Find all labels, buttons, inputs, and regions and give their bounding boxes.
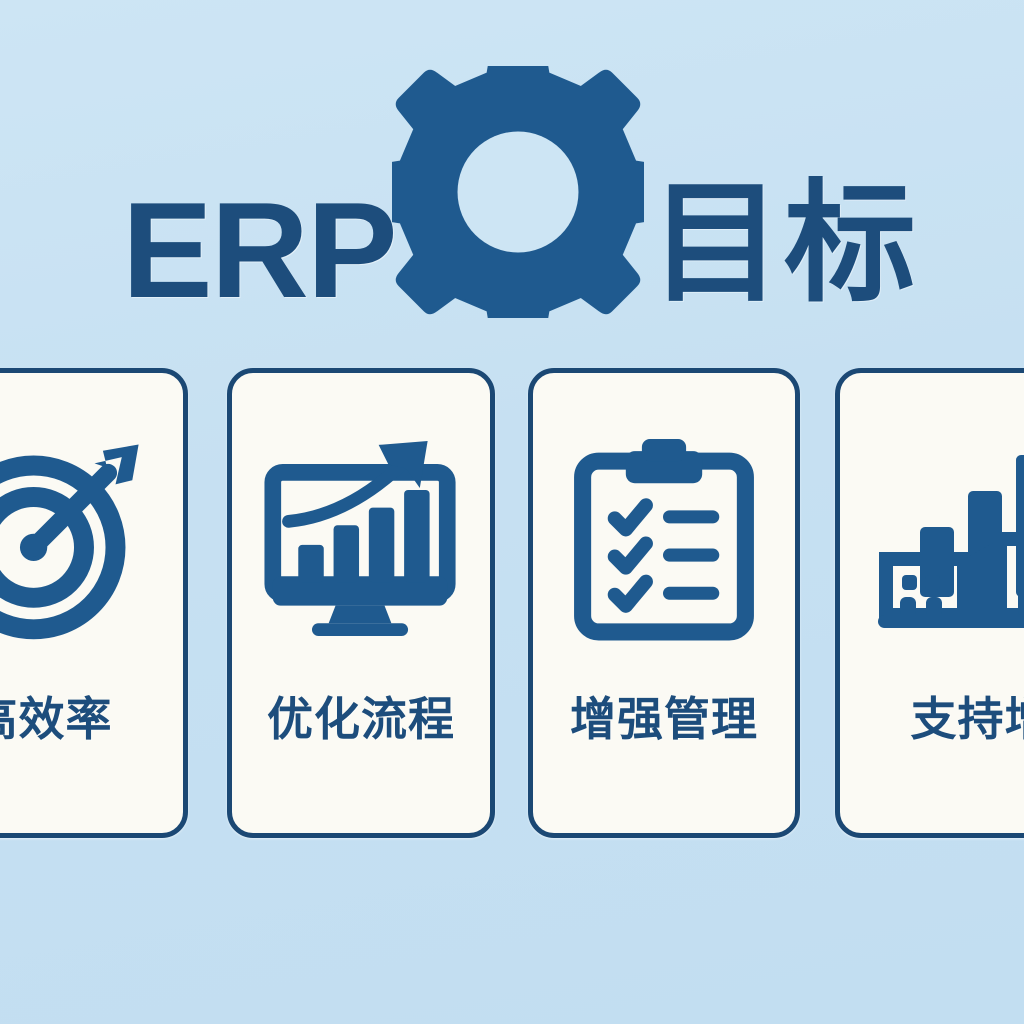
goal-card-label: 高效率 xyxy=(0,691,183,747)
page-title-cjk: 目标 xyxy=(650,178,918,310)
clipboard-checklist-icon xyxy=(533,415,795,663)
goal-card-label: 增强管理 xyxy=(533,691,795,747)
goal-card-efficiency[interactable]: 高效率 xyxy=(0,368,188,838)
goal-card-growth[interactable]: 支持增 xyxy=(835,368,1024,838)
monitor-growth-chart-icon xyxy=(232,415,490,663)
erp-goals-poster: ERP 目标 xyxy=(0,0,1024,1024)
page-title-latin: ERP xyxy=(122,182,396,318)
goal-card-label: 支持增 xyxy=(840,691,1024,747)
factory-bar-chart-icon xyxy=(840,415,1024,663)
goal-card-row: 高效率 xyxy=(0,368,1024,840)
target-arrow-icon xyxy=(0,415,183,663)
goal-card-process[interactable]: 优化流程 xyxy=(227,368,495,838)
gear-icon xyxy=(392,66,644,318)
goal-card-management[interactable]: 增强管理 xyxy=(528,368,800,838)
poster-title: ERP 目标 xyxy=(0,66,1024,316)
goal-card-label: 优化流程 xyxy=(232,691,490,747)
